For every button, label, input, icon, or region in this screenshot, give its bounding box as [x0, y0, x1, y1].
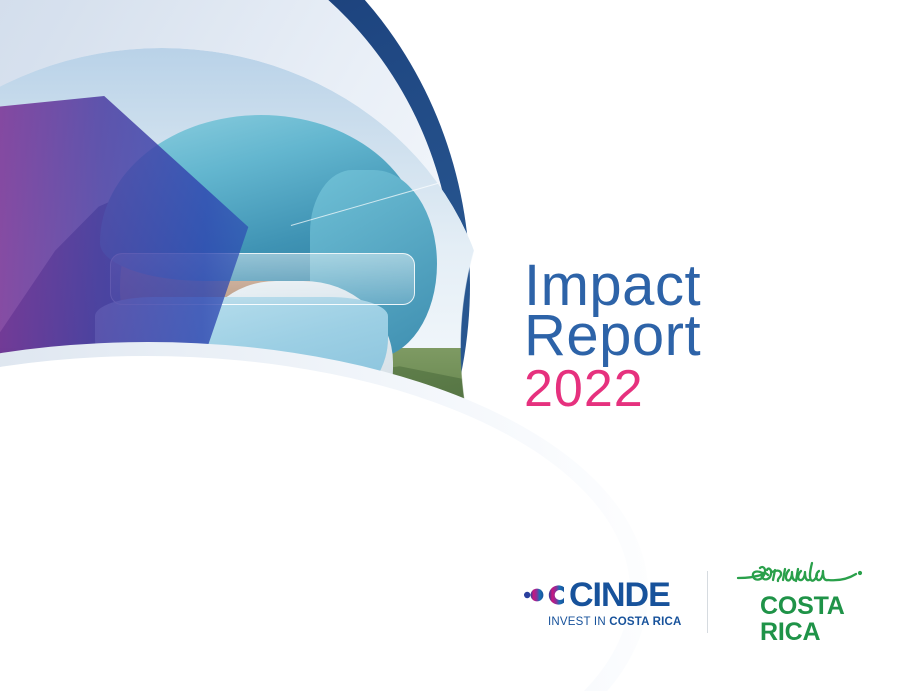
cinde-tagline-light: INVEST IN — [548, 616, 609, 628]
report-cover-page: Impact Report 2022 — [0, 0, 900, 691]
cinde-logo-top: CINDE — [524, 577, 685, 613]
cinde-tagline: INVEST IN COSTA RICA — [548, 616, 685, 628]
cinde-tagline-bold: COSTA RICA — [609, 616, 681, 628]
title-line-report: Report — [524, 308, 701, 364]
page-title: Impact Report 2022 — [524, 258, 701, 415]
essential-script-icon — [734, 559, 864, 589]
cinde-c-mark-icon — [524, 582, 568, 608]
essential-costa-text: COSTA — [760, 594, 864, 620]
cinde-wordmark: CINDE — [569, 578, 670, 612]
logo-row: CINDE INVEST IN COSTA RICA — [524, 560, 864, 644]
title-year: 2022 — [524, 365, 701, 415]
essential-rica-text: RICA — [760, 620, 864, 646]
logo-divider — [707, 571, 708, 633]
cinde-logo[interactable]: CINDE INVEST IN COSTA RICA — [524, 577, 685, 628]
essential-costa-rica-logo[interactable]: COSTA RICA — [734, 559, 864, 645]
